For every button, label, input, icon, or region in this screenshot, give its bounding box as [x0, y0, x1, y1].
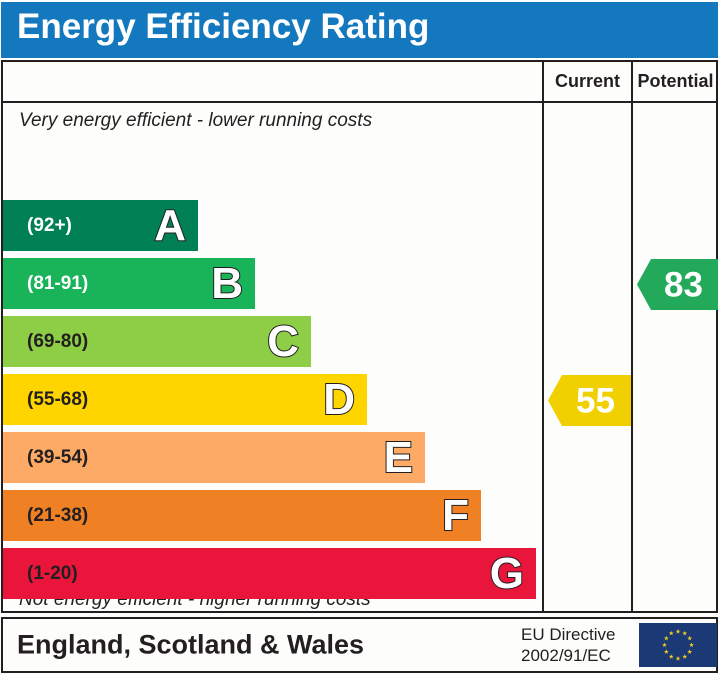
eu-star: [687, 649, 692, 654]
eu-star: [664, 636, 669, 641]
band-letter-e: E: [384, 436, 413, 480]
rating-band-c: (69-80)C: [3, 316, 311, 367]
page-title: Energy Efficiency Rating: [17, 7, 429, 47]
eu-star: [669, 654, 674, 659]
band-range-label: (1-20): [27, 563, 78, 585]
band-range-label: (21-38): [27, 505, 88, 527]
potential-rating-arrow-value: 83: [655, 267, 712, 302]
band-letter-b: B: [211, 262, 243, 306]
footer-directive-label: EU Directive 2002/91/EC: [521, 624, 615, 667]
eu-star: [682, 631, 687, 636]
band-range-label: (55-68): [27, 389, 88, 411]
potential-rating-arrow: 83: [637, 259, 718, 310]
rating-band-e: (39-54)E: [3, 432, 425, 483]
column-divider-current: [542, 62, 544, 611]
band-letter-g: G: [490, 552, 524, 596]
eu-flag-icon: [639, 623, 717, 667]
column-divider-potential: [631, 62, 633, 611]
eu-star: [676, 629, 681, 634]
eu-star: [689, 642, 694, 647]
current-rating-arrow: 55: [548, 375, 631, 426]
eu-star: [676, 656, 681, 661]
title-bar: Energy Efficiency Rating: [1, 2, 718, 58]
rating-band-b: (81-91)B: [3, 258, 255, 309]
rating-chart: Current Potential Very energy efficient …: [1, 60, 718, 613]
caption-efficient: Very energy efficient - lower running co…: [19, 110, 372, 132]
rating-band-f: (21-38)F: [3, 490, 481, 541]
band-letter-d: D: [323, 378, 355, 422]
band-letter-a: A: [154, 204, 186, 248]
band-range-label: (92+): [27, 215, 72, 237]
band-letter-c: C: [267, 320, 299, 364]
footer-region-label: England, Scotland & Wales: [17, 630, 364, 661]
current-rating-arrow-value: 55: [566, 383, 625, 418]
band-letter-f: F: [442, 494, 469, 538]
directive-line-1: EU Directive: [521, 625, 615, 644]
eu-star: [669, 631, 674, 636]
eu-star: [662, 642, 667, 647]
rating-band-g: (1-20)G: [3, 548, 536, 599]
band-range-label: (81-91): [27, 273, 88, 295]
directive-line-2: 2002/91/EC: [521, 646, 611, 665]
eu-star: [664, 649, 669, 654]
footer: England, Scotland & Wales EU Directive 2…: [1, 617, 718, 673]
header-divider: [3, 101, 716, 103]
rating-band-a: (92+)A: [3, 200, 198, 251]
eu-star: [682, 654, 687, 659]
band-range-label: (69-80): [27, 331, 88, 353]
rating-band-d: (55-68)D: [3, 374, 367, 425]
column-header-current: Current: [544, 71, 631, 92]
energy-efficiency-certificate: Energy Efficiency Rating Current Potenti…: [0, 0, 719, 675]
band-range-label: (39-54): [27, 447, 88, 469]
eu-star: [687, 636, 692, 641]
column-header-potential: Potential: [633, 71, 718, 92]
